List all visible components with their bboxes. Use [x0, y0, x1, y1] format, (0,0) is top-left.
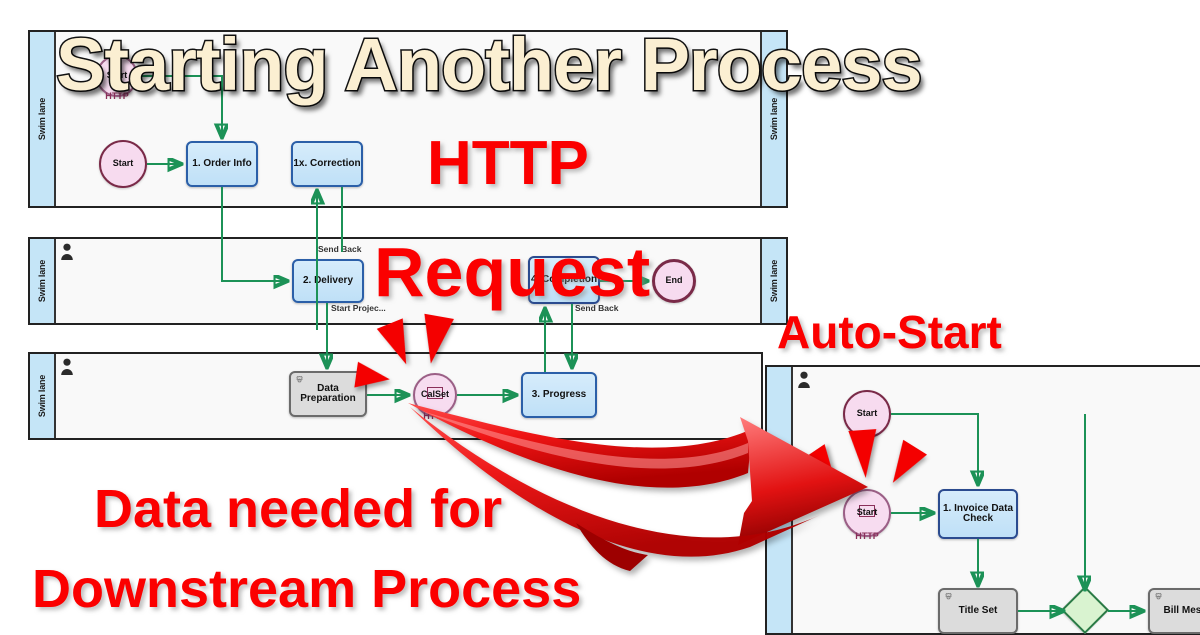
main-end-event[interactable]: End: [652, 259, 696, 303]
main-start-event[interactable]: Start: [99, 140, 147, 188]
script-icon: [1153, 592, 1164, 603]
task-bill-message-label: Bill Messa: [1164, 606, 1200, 617]
lane-2-header-left: Swim lane: [30, 239, 56, 323]
lane-3-label-left: Swim lane: [37, 375, 47, 417]
main-end-event-label: End: [666, 276, 683, 285]
task-title-set[interactable]: Title Set: [938, 588, 1018, 634]
actor-icon: [797, 371, 811, 389]
edge-label-send-back-top: Send Back: [318, 244, 361, 254]
task-invoice-data-check[interactable]: 1. Invoice Data Check: [938, 489, 1018, 539]
lane-1-label-left: Swim lane: [37, 98, 47, 140]
task-delivery[interactable]: 2. Delivery: [292, 259, 364, 303]
event-calset-label: CalSet: [421, 390, 449, 399]
actor-icon: [60, 358, 74, 376]
burst-triangle-main-left: [354, 362, 391, 392]
overlay-data-line2: Downstream Process: [32, 558, 581, 620]
screenshot-stage: Swim lane Swim lane Start HTTP Start 1. …: [0, 0, 1200, 630]
task-order-info-label: 1. Order Info: [192, 159, 251, 170]
overlay-http: HTTP: [427, 128, 589, 199]
inset-start-http-label: Start: [857, 508, 878, 517]
overlay-data-line1: Data needed for: [94, 478, 502, 540]
overlay-request: Request: [374, 232, 650, 312]
script-icon: [943, 592, 954, 603]
task-correction-label: 1x. Correction: [293, 159, 360, 170]
overlay-title: Starting Another Process: [56, 22, 922, 107]
overlay-auto-start: Auto-Start: [777, 305, 1002, 359]
task-bill-message[interactable]: Bill Messa: [1148, 588, 1200, 634]
lane-2-label-left: Swim lane: [37, 260, 47, 302]
lane-2-label-right: Swim lane: [769, 260, 779, 302]
lane-3-header-left: Swim lane: [30, 354, 56, 438]
task-order-info[interactable]: 1. Order Info: [186, 141, 258, 187]
script-icon: [294, 375, 305, 386]
task-correction[interactable]: 1x. Correction: [291, 141, 363, 187]
main-start-event-label: Start: [113, 159, 134, 168]
task-delivery-label: 2. Delivery: [303, 276, 353, 287]
task-title-set-label: Title Set: [959, 606, 998, 617]
actor-icon: [60, 243, 74, 261]
lane-1-header-left: Swim lane: [30, 32, 56, 206]
task-invoice-data-check-label: 1. Invoice Data Check: [940, 504, 1016, 525]
